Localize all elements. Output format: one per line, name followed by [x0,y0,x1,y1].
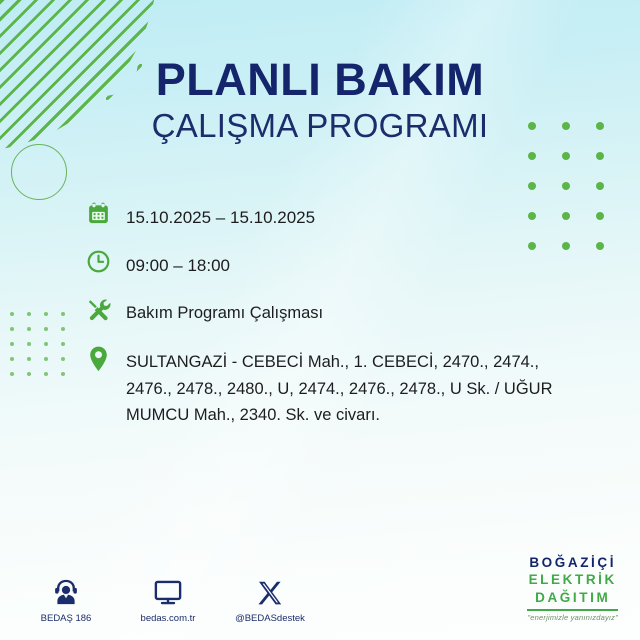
work-type-text: Bakım Programı Çalışması [126,296,323,326]
tools-icon [86,296,126,330]
outage-details: 15.10.2025 – 15.10.2025 09:00 – 18:00 Ba… [86,200,566,443]
monitor-icon [130,573,206,607]
logo-line-bogazici: BOĞAZİÇİ [527,554,618,571]
headset-icon [28,573,104,607]
contact-social[interactable]: @BEDASdestek [232,573,308,624]
date-range-text: 15.10.2025 – 15.10.2025 [126,200,315,231]
contact-phone[interactable]: BEDAŞ 186 [28,573,104,624]
contact-list: BEDAŞ 186 bedas.com.tr @BEDASdestek [28,573,308,624]
detail-row-address: SULTANGAZİ - CEBECİ Mah., 1. CEBECİ, 247… [86,344,566,429]
title-main: PLANLI BAKIM [0,56,640,104]
x-logo-icon [232,573,308,607]
company-logo: BOĞAZİÇİ ELEKTRİK DAĞITIM "enerjimizle y… [527,554,618,622]
time-range-text: 09:00 – 18:00 [126,248,230,279]
page-title: PLANLI BAKIM ÇALIŞMA PROGRAMI [0,56,640,145]
clock-icon [86,248,126,282]
contact-phone-label: BEDAŞ 186 [28,613,104,624]
contact-social-label: @BEDASdestek [232,613,308,624]
address-text: SULTANGAZİ - CEBECİ Mah., 1. CEBECİ, 247… [126,344,566,429]
location-pin-icon [86,344,126,378]
calendar-icon [86,200,126,234]
dot-grid-left-decoration [10,312,65,376]
detail-row-work-type: Bakım Programı Çalışması [86,296,566,330]
logo-tagline: "enerjimizle yanınızdayız" [527,613,618,622]
title-subtitle: ÇALIŞMA PROGRAMI [0,108,640,145]
logo-line-dagitim: DAĞITIM [527,589,618,606]
footer: BEDAŞ 186 bedas.com.tr @BEDASdestek BOĞA… [0,558,640,624]
detail-row-date: 15.10.2025 – 15.10.2025 [86,200,566,234]
contact-website-label: bedas.com.tr [130,613,206,624]
contact-website[interactable]: bedas.com.tr [130,573,206,624]
detail-row-time: 09:00 – 18:00 [86,248,566,282]
logo-divider [527,609,618,611]
logo-line-elektrik: ELEKTRİK [527,571,618,588]
circle-outline-decoration [11,144,67,200]
